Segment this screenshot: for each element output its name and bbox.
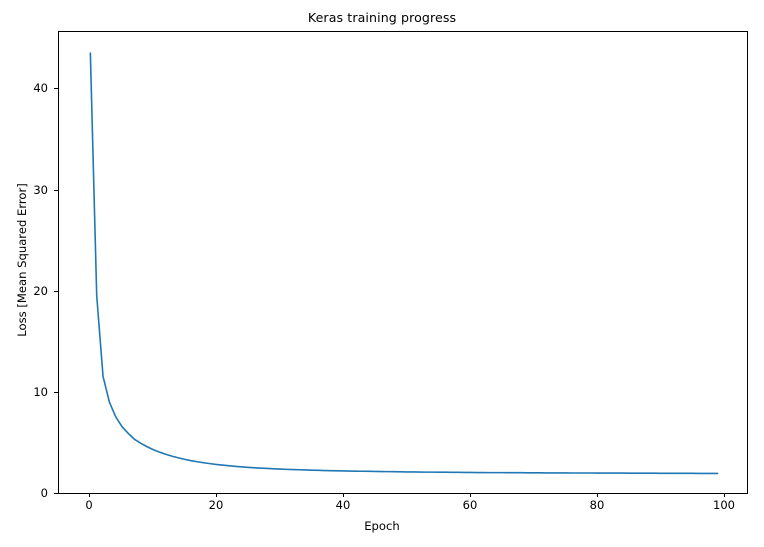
xtick-label-40: 40 [313, 498, 373, 512]
ytick-label-10: 10 [6, 385, 48, 399]
ytick-label-40: 40 [6, 81, 48, 95]
xtick-mark-20 [216, 493, 217, 497]
xtick-mark-0 [89, 493, 90, 497]
chart-title: Keras training progress [0, 10, 764, 25]
xtick-mark-60 [470, 493, 471, 497]
ytick-mark-20 [54, 291, 58, 292]
ytick-label-0: 0 [6, 486, 48, 500]
xtick-label-0: 0 [59, 498, 119, 512]
xtick-mark-80 [597, 493, 598, 497]
matplotlib-figure: Keras training progress 0 10 20 30 40 0 … [0, 0, 764, 547]
loss-curve-svg [59, 32, 749, 495]
xtick-mark-100 [724, 493, 725, 497]
y-axis-label: Loss [Mean Squared Error] [15, 145, 29, 375]
xtick-label-80: 80 [567, 498, 627, 512]
xtick-label-60: 60 [440, 498, 500, 512]
xtick-label-20: 20 [186, 498, 246, 512]
ytick-mark-40 [54, 88, 58, 89]
ytick-mark-0 [54, 493, 58, 494]
ytick-mark-30 [54, 190, 58, 191]
x-axis-label: Epoch [0, 519, 764, 533]
ytick-mark-10 [54, 392, 58, 393]
plot-axes [58, 31, 748, 494]
xtick-label-100: 100 [694, 498, 754, 512]
xtick-mark-40 [343, 493, 344, 497]
loss-line [90, 53, 717, 473]
